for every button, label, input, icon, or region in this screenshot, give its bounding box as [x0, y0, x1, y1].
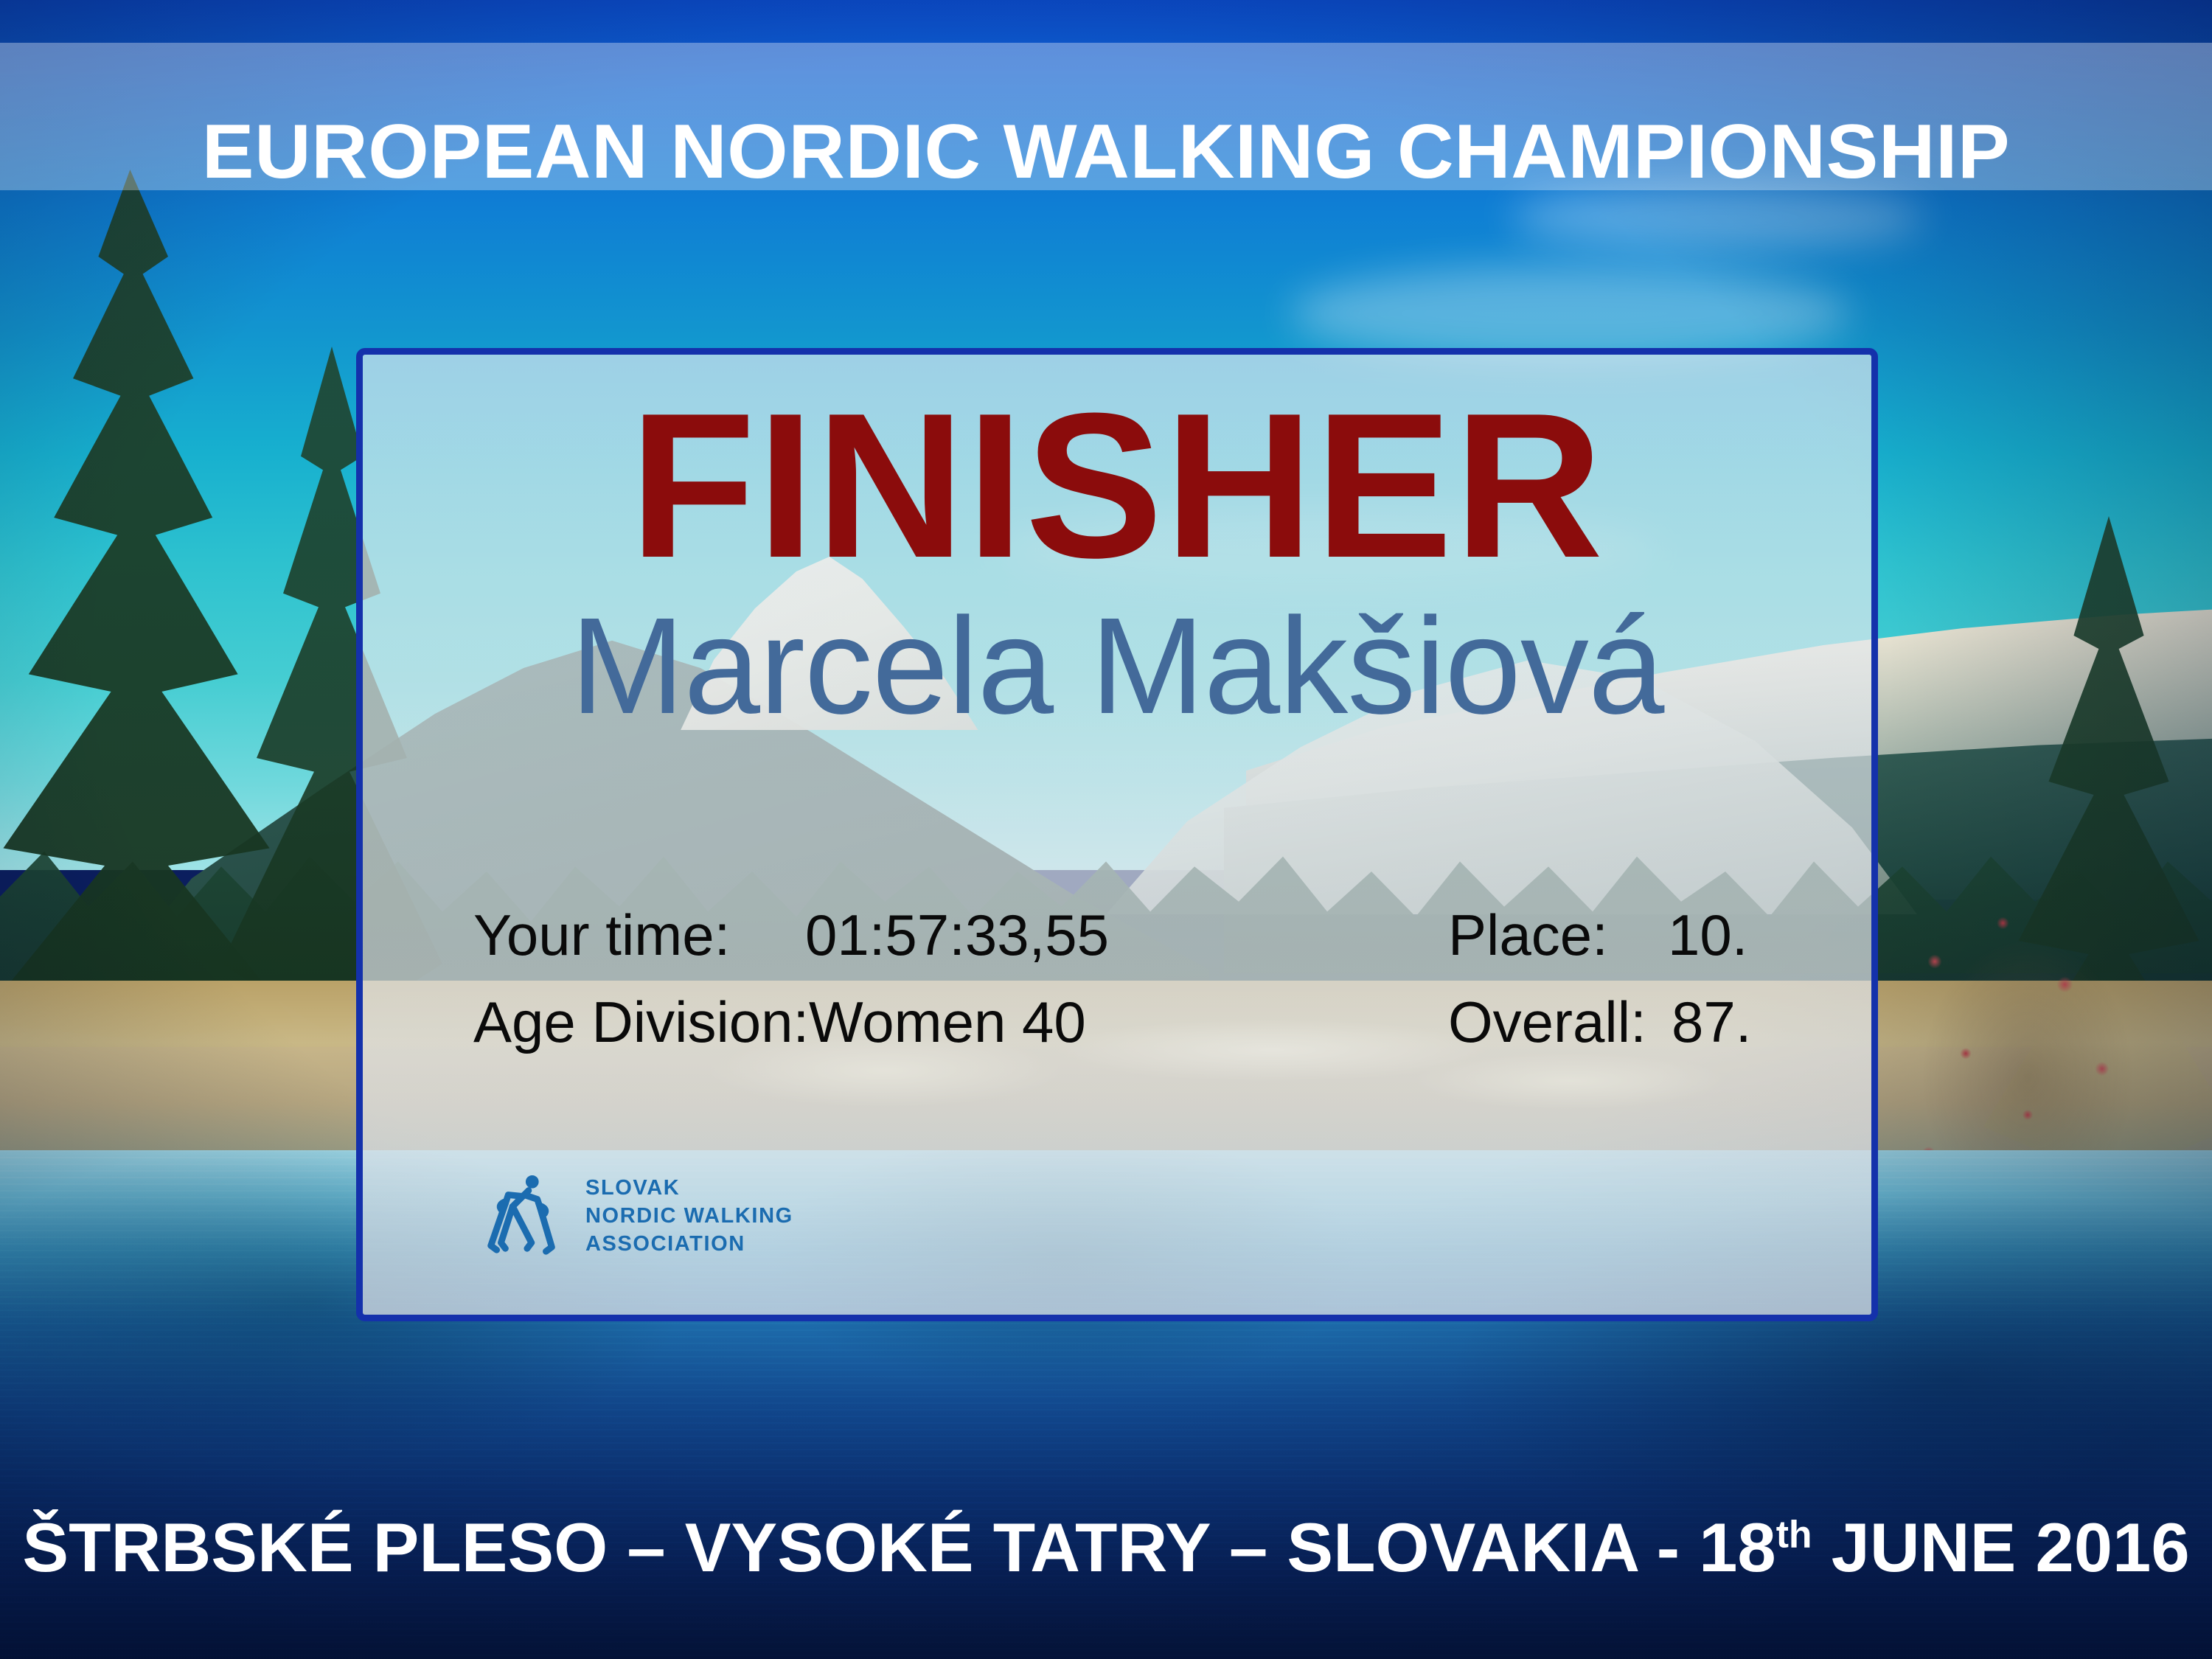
- place-label: Place:: [1448, 906, 1608, 964]
- footer-place: ŠTRBSKÉ PLESO – VYSOKÉ TATRY – SLOVAKIA …: [22, 1509, 1775, 1586]
- place-value: 10.: [1668, 906, 1747, 964]
- event-location-date: ŠTRBSKÉ PLESO – VYSOKÉ TATRY – SLOVAKIA …: [0, 1513, 2212, 1582]
- logo-line-1: SLOVAK: [585, 1175, 793, 1203]
- overall-value: 87.: [1672, 993, 1751, 1051]
- logo-line-3: ASSOCIATION: [585, 1231, 793, 1259]
- certificate-image: EUROPEAN NORDIC WALKING CHAMPIONSHIP FIN…: [0, 0, 2212, 1659]
- finisher-title: FINISHER: [363, 383, 1871, 589]
- your-time-label: Your time:: [473, 906, 730, 964]
- racer-name: Marcela Makšiová: [363, 598, 1871, 735]
- logo-line-2: NORDIC WALKING: [585, 1203, 793, 1231]
- your-time-value: 01:57:33,55: [805, 906, 1109, 964]
- overall-label: Overall:: [1448, 993, 1646, 1051]
- header-banner: EUROPEAN NORDIC WALKING CHAMPIONSHIP: [0, 43, 2212, 190]
- slovak-nordic-walking-association-logo: SLOVAK NORDIC WALKING ASSOCIATION: [479, 1169, 833, 1265]
- logo-wordmark: SLOVAK NORDIC WALKING ASSOCIATION: [585, 1175, 793, 1258]
- result-row-time: Your time: 01:57:33,55 Place: 10.: [473, 906, 1786, 993]
- footer-date: JUNE 2016: [1812, 1509, 2190, 1586]
- result-row-division: Age Division: Women 40 Overall: 87.: [473, 993, 1786, 1080]
- age-division-label: Age Division:: [473, 993, 809, 1051]
- footer-ordinal: th: [1776, 1513, 1812, 1556]
- nordic-walker-icon: [479, 1173, 566, 1260]
- age-division-value: Women 40: [809, 993, 1086, 1051]
- results-table: Your time: 01:57:33,55 Place: 10. Age Di…: [473, 906, 1786, 1080]
- event-title: EUROPEAN NORDIC WALKING CHAMPIONSHIP: [0, 114, 2212, 190]
